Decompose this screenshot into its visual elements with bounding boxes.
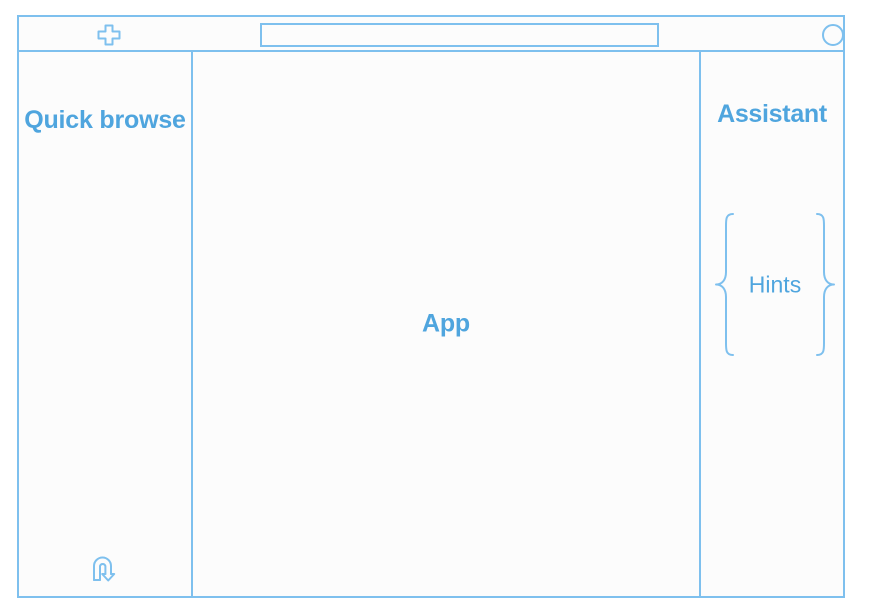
address-bar-input[interactable]	[262, 25, 657, 45]
assistant-panel: Assistant Hints	[701, 52, 843, 596]
sidebar-title: Quick browse	[19, 104, 191, 136]
circle-avatar-icon[interactable]	[822, 24, 844, 46]
plus-icon[interactable]	[97, 24, 121, 46]
hints-block: Hints	[714, 212, 836, 357]
window-body: Quick browse App Assistant	[19, 52, 843, 596]
assistant-title: Assistant	[701, 100, 843, 129]
browser-window: Quick browse App Assistant	[17, 15, 845, 598]
quick-browse-sidebar: Quick browse	[19, 52, 193, 596]
hints-label: Hints	[736, 271, 814, 298]
address-bar[interactable]	[260, 23, 659, 47]
brace-left-icon	[714, 212, 736, 357]
u-turn-arrow-icon[interactable]	[89, 553, 123, 583]
app-label: App	[193, 310, 699, 339]
brace-right-icon	[814, 212, 836, 357]
browser-toolbar	[19, 17, 843, 52]
app-content-area: App	[193, 52, 701, 596]
